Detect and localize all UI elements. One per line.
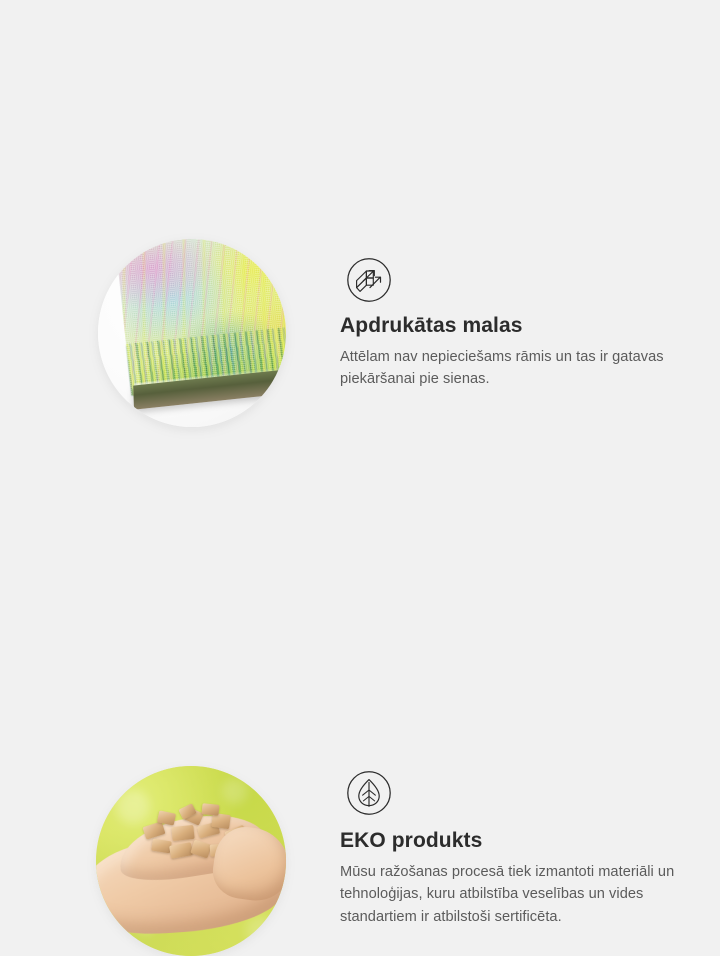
wood-chip [169, 842, 193, 859]
wood-chip [142, 821, 165, 840]
feature-eko-product: EKO produkts Mūsu ražošanas procesā tiek… [0, 378, 720, 588]
canvas-wrapped-edges-icon [346, 257, 392, 303]
hands-with-wood-chips-photo [96, 766, 286, 956]
feature-printed-edges: Apdrukātas malas Attēlam nav nepieciešam… [0, 105, 720, 345]
feature-description: Mūsu ražošanas procesā tiek izmantoti ma… [340, 861, 690, 928]
feature-page: Apdrukātas malas Attēlam nav nepieciešam… [0, 0, 720, 720]
wood-chip [190, 840, 211, 859]
bokeh-light [246, 916, 276, 946]
photo-backdrop [96, 766, 286, 956]
wood-chip [171, 825, 194, 841]
leaf-icon [346, 770, 392, 816]
feature-title: Apdrukātas malas [340, 313, 690, 339]
feature-title: EKO produkts [340, 828, 690, 854]
feature-text-eko-product: EKO produkts Mūsu ražošanas procesā tiek… [340, 828, 690, 928]
wood-chip [201, 803, 219, 816]
bokeh-light [222, 778, 248, 804]
